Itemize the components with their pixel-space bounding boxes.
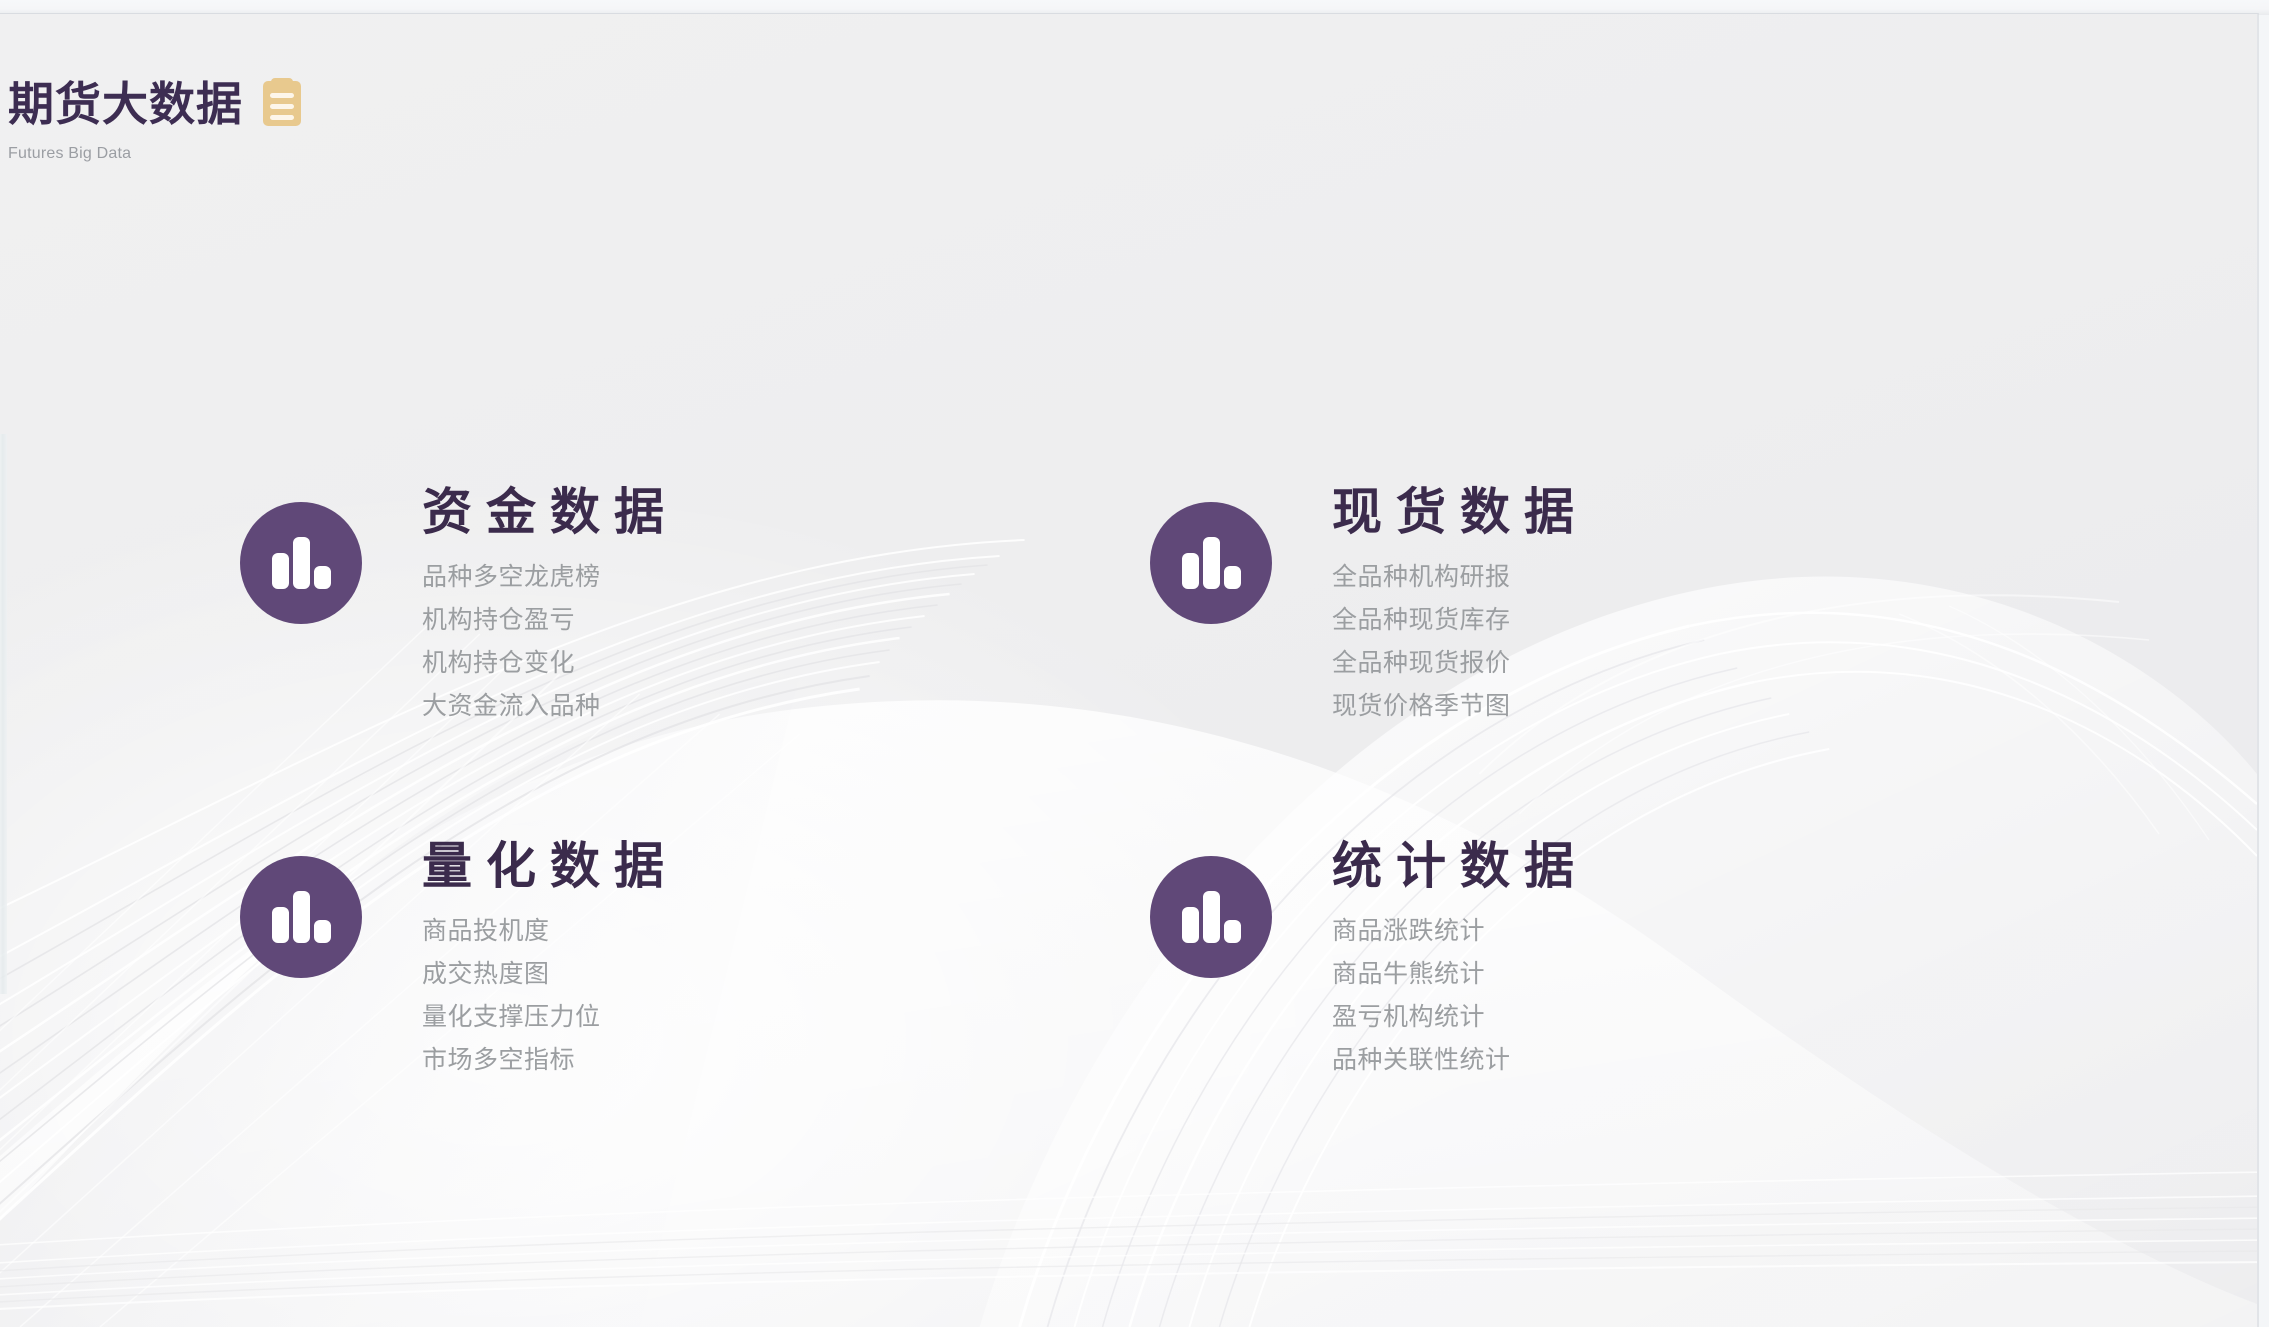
- content-panel: 期货大数据 Futures Big Data: [0, 14, 2258, 1327]
- section-item-list: 商品投机度 成交热度图 量化支撑压力位 市场多空指标: [422, 910, 678, 1082]
- list-item[interactable]: 商品牛熊统计: [1332, 953, 1588, 996]
- page-header: 期货大数据 Futures Big Data: [8, 76, 303, 163]
- app-screen: 期货大数据 Futures Big Data: [0, 0, 2269, 1327]
- title-row: 期货大数据: [8, 76, 303, 133]
- section-title: 量化数据: [422, 838, 678, 894]
- section-title: 资金数据: [422, 484, 678, 540]
- list-item[interactable]: 品种多空龙虎榜: [422, 556, 678, 599]
- page-title: 期货大数据: [8, 80, 243, 128]
- left-edge-scroll-sliver[interactable]: [0, 434, 7, 994]
- list-item[interactable]: 成交热度图: [422, 953, 678, 996]
- window-top-strip: [0, 0, 2269, 15]
- bar-chart-icon: [240, 502, 362, 624]
- bar-chart-icon: [1150, 856, 1272, 978]
- section-card-spot-data[interactable]: 现货数据 全品种机构研报 全品种现货库存 全品种现货报价 现货价格季节图: [1150, 484, 1950, 728]
- section-item-list: 品种多空龙虎榜 机构持仓盈亏 机构持仓变化 大资金流入品种: [422, 556, 678, 728]
- section-title: 统计数据: [1332, 838, 1588, 894]
- list-item[interactable]: 量化支撑压力位: [422, 996, 678, 1039]
- list-item[interactable]: 全品种现货报价: [1332, 642, 1588, 685]
- list-item[interactable]: 机构持仓盈亏: [422, 599, 678, 642]
- section-body: 资金数据 品种多空龙虎榜 机构持仓盈亏 机构持仓变化 大资金流入品种: [422, 484, 678, 728]
- section-item-list: 商品涨跌统计 商品牛熊统计 盈亏机构统计 品种关联性统计: [1332, 910, 1588, 1082]
- list-item[interactable]: 市场多空指标: [422, 1039, 678, 1082]
- list-item[interactable]: 盈亏机构统计: [1332, 996, 1588, 1039]
- list-item[interactable]: 商品投机度: [422, 910, 678, 953]
- list-item[interactable]: 全品种机构研报: [1332, 556, 1588, 599]
- list-item[interactable]: 机构持仓变化: [422, 642, 678, 685]
- list-item[interactable]: 全品种现货库存: [1332, 599, 1588, 642]
- data-sections-grid: 资金数据 品种多空龙虎榜 机构持仓盈亏 机构持仓变化 大资金流入品种: [240, 484, 1960, 1082]
- section-card-capital-data[interactable]: 资金数据 品种多空龙虎榜 机构持仓盈亏 机构持仓变化 大资金流入品种: [240, 484, 1040, 728]
- section-card-statistics-data[interactable]: 统计数据 商品涨跌统计 商品牛熊统计 盈亏机构统计 品种关联性统计: [1150, 838, 1950, 1082]
- section-body: 现货数据 全品种机构研报 全品种现货库存 全品种现货报价 现货价格季节图: [1332, 484, 1588, 728]
- section-body: 统计数据 商品涨跌统计 商品牛熊统计 盈亏机构统计 品种关联性统计: [1332, 838, 1588, 1082]
- section-item-list: 全品种机构研报 全品种现货库存 全品种现货报价 现货价格季节图: [1332, 556, 1588, 728]
- list-item[interactable]: 现货价格季节图: [1332, 685, 1588, 728]
- bar-chart-icon: [1150, 502, 1272, 624]
- page-subtitle: Futures Big Data: [8, 145, 303, 163]
- clipboard-icon: [261, 76, 303, 133]
- section-title: 现货数据: [1332, 484, 1588, 540]
- list-item[interactable]: 品种关联性统计: [1332, 1039, 1588, 1082]
- list-item[interactable]: 商品涨跌统计: [1332, 910, 1588, 953]
- bar-chart-icon: [240, 856, 362, 978]
- section-card-quant-data[interactable]: 量化数据 商品投机度 成交热度图 量化支撑压力位 市场多空指标: [240, 838, 1040, 1082]
- list-item[interactable]: 大资金流入品种: [422, 685, 678, 728]
- section-body: 量化数据 商品投机度 成交热度图 量化支撑压力位 市场多空指标: [422, 838, 678, 1082]
